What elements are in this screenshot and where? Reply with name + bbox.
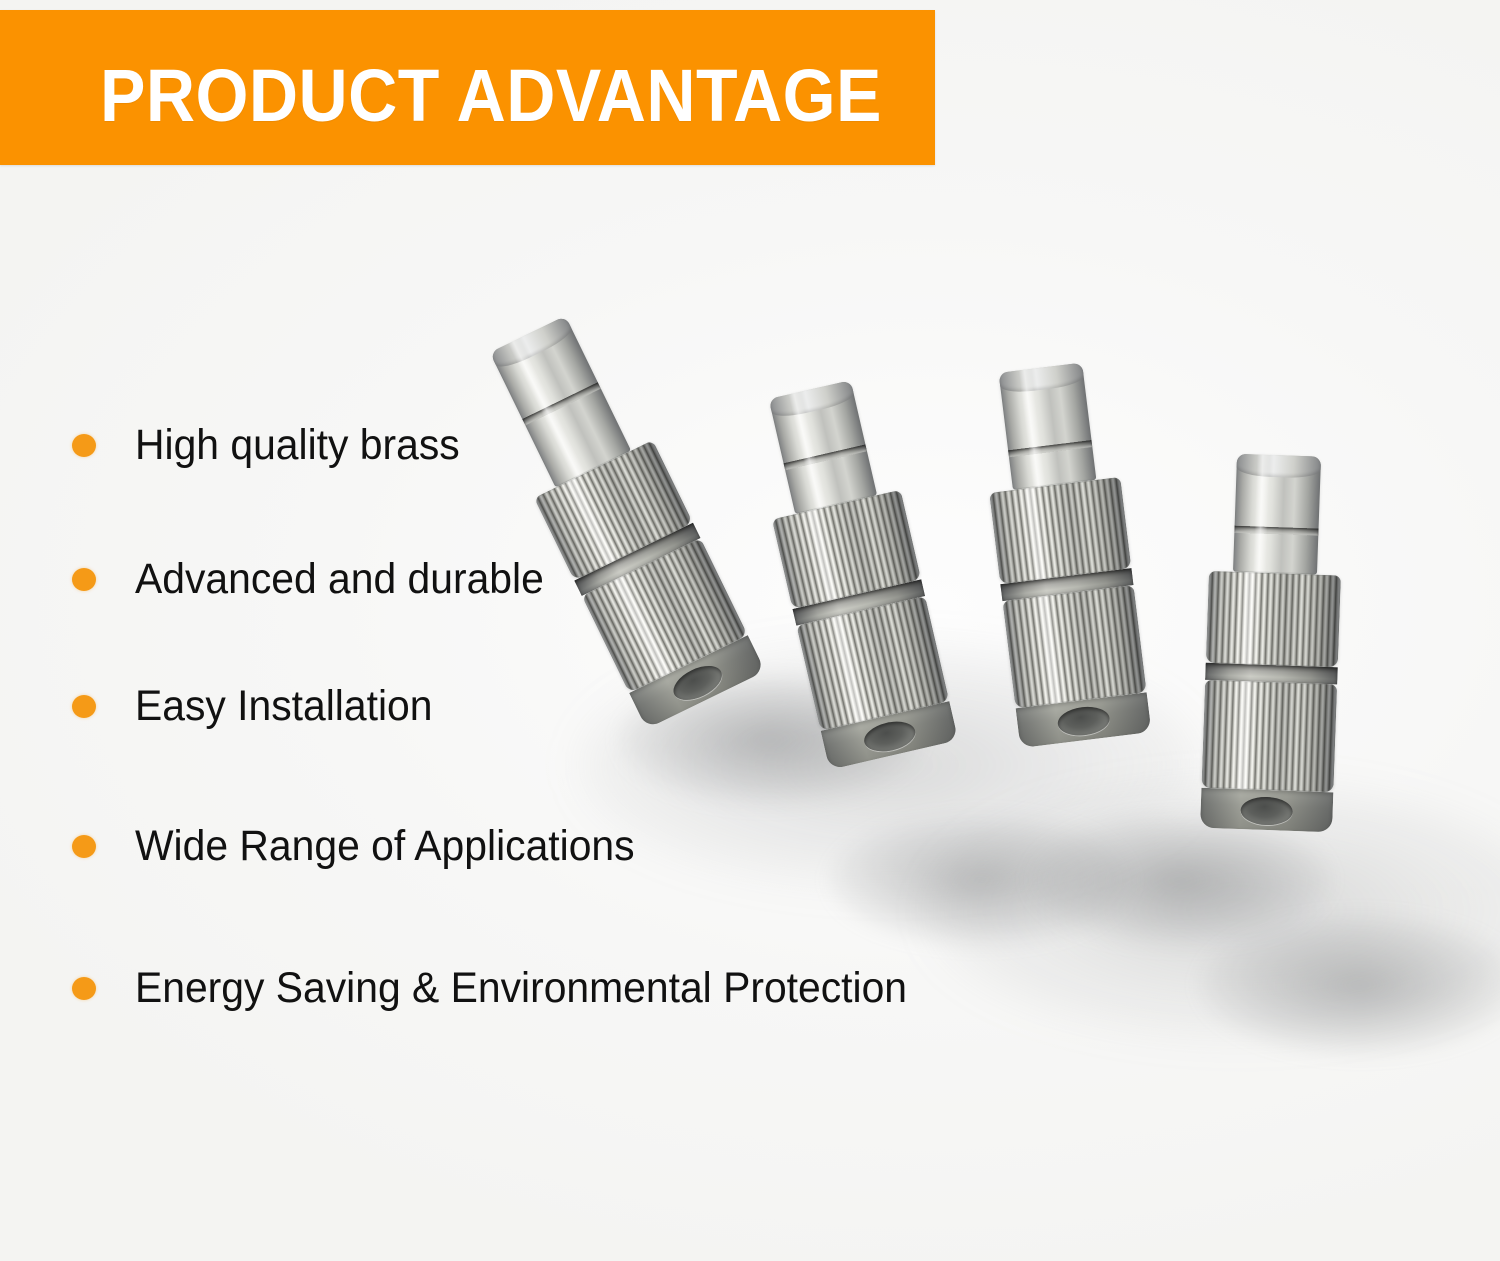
nozzle-orifice	[1240, 796, 1293, 826]
nozzle-end-face	[1200, 788, 1333, 833]
bullet-dot-icon	[72, 695, 96, 718]
list-item: Wide Range of Applications	[72, 818, 661, 874]
nozzle-shaft-groove	[1234, 526, 1318, 536]
nozzle-orifice	[1056, 704, 1111, 738]
list-item: Advanced and durable	[72, 551, 565, 607]
list-item: High quality brass	[72, 417, 477, 473]
infographic-canvas: PRODUCT ADVANTAGE	[0, 0, 1500, 1261]
bullet-dot-icon	[72, 977, 96, 1000]
nozzle-knurled-band	[1206, 571, 1341, 668]
product-shadow	[1200, 915, 1500, 1055]
bullet-dot-icon	[72, 835, 96, 858]
list-item: Easy Installation	[72, 678, 448, 734]
nozzle-shaft-tip	[1236, 454, 1321, 479]
nozzle-knurled-band	[1201, 680, 1337, 793]
list-item: Energy Saving & Environmental Protection	[72, 960, 948, 1016]
advantage-list: High quality brass Advanced and durable …	[0, 0, 1050, 1261]
list-item-label: Energy Saving & Environmental Protection	[135, 965, 907, 1011]
nozzle-highlight	[1233, 681, 1257, 790]
list-item-label: High quality brass	[135, 422, 460, 468]
list-item-label: Wide Range of Applications	[135, 823, 635, 869]
nozzle-highlight	[1237, 572, 1260, 665]
bullet-dot-icon	[72, 434, 96, 457]
misting-nozzle	[1200, 453, 1345, 832]
bullet-dot-icon	[72, 568, 96, 591]
list-item-label: Advanced and durable	[135, 556, 544, 602]
nozzle-shaft	[1233, 454, 1321, 575]
list-item-label: Easy Installation	[135, 683, 432, 729]
